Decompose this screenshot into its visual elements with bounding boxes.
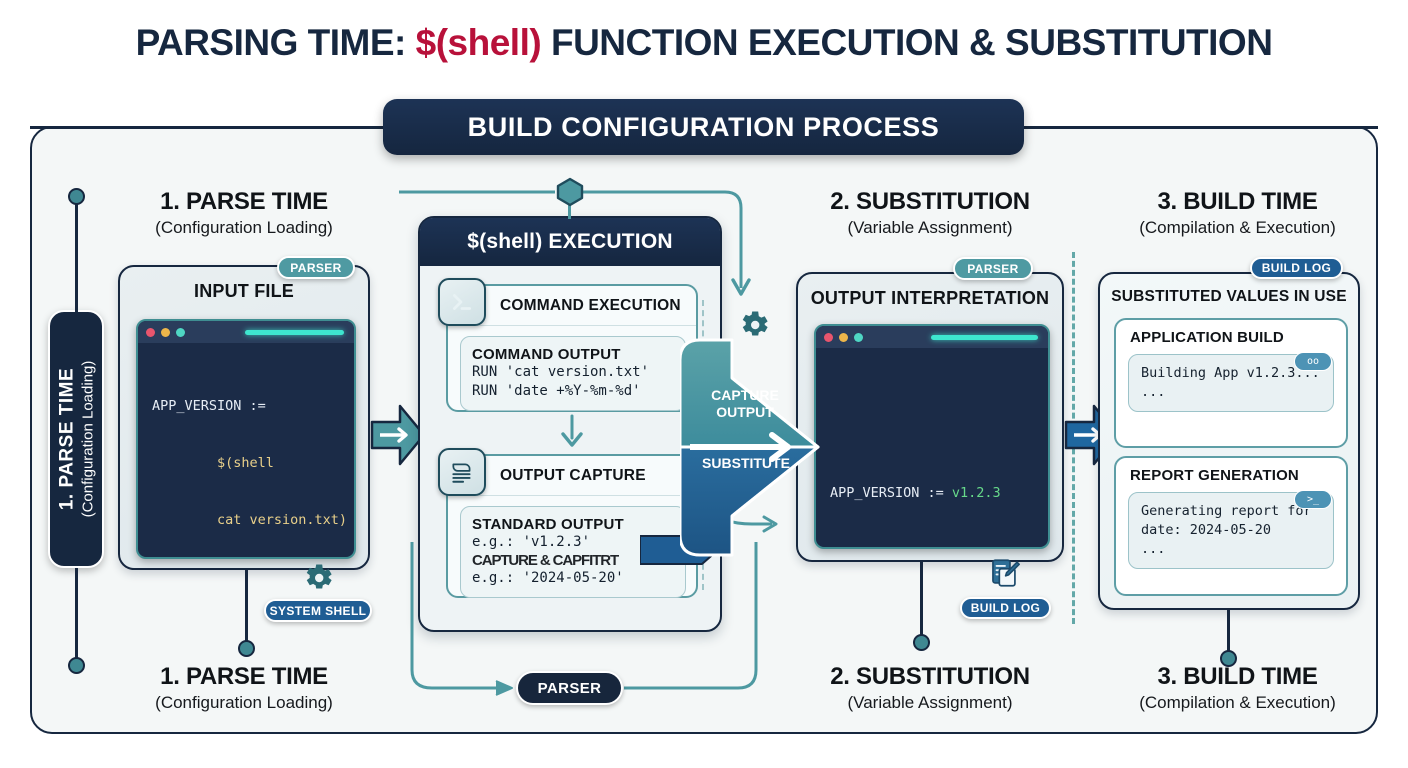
- col1-subtitle: (Configuration Loading): [124, 218, 364, 238]
- connector-line-col1-bottom: [245, 570, 248, 646]
- title-highlight: $(shell): [416, 22, 542, 63]
- bottom2-title: 2. SUBSTITUTION: [795, 663, 1065, 691]
- badge-build-log-col3: BUILD LOG: [960, 597, 1051, 619]
- node-dot-col1-bottom: [238, 640, 255, 657]
- titlebar-accent: [931, 335, 1038, 340]
- infographic-canvas: PARSING TIME: $(shell) FUNCTION EXECUTIO…: [0, 0, 1408, 768]
- report-line-1: Generating report for: [1141, 503, 1312, 519]
- badge-parser-substitution: PARSER: [953, 257, 1033, 280]
- subst-line-1: APP_VERSION := v1.2.3: [830, 475, 1034, 511]
- maximize-dot-icon: [854, 333, 863, 342]
- badge-system-shell: SYSTEM SHELL: [264, 599, 372, 622]
- connector-line-col3-bottom: [920, 562, 923, 640]
- bottom-label-build-time: 3. BUILD TIME (Compilation & Execution): [1095, 663, 1380, 713]
- node-dot-side-bottom: [68, 657, 85, 674]
- input-file-code: APP_VERSION := $(shell cat version.txt) …: [138, 343, 354, 559]
- gear-shell-icon-wrap: [300, 560, 336, 601]
- badge-parser-bottom: PARSER: [516, 671, 623, 705]
- side-tab-title: 1. PARSE TIME: [56, 361, 78, 518]
- arrow-label-capture: CAPTURE: [690, 387, 800, 404]
- build-values-card: SUBSTITUTED VALUES IN USE APPLICATION BU…: [1098, 272, 1360, 610]
- command-output-title: COMMAND OUTPUT: [472, 346, 674, 363]
- column-header-build-time: 3. BUILD TIME (Compilation & Execution): [1095, 188, 1380, 238]
- bottom-label-substitution: 2. SUBSTITUTION (Variable Assignment): [795, 663, 1065, 713]
- build-log-icon-wrap: [988, 556, 1022, 595]
- page-title: PARSING TIME: $(shell) FUNCTION EXECUTIO…: [0, 22, 1408, 64]
- command-output-line-2: RUN 'date +%Y-%m-%d': [472, 382, 674, 401]
- report-line-3: ...: [1141, 541, 1165, 557]
- banner-wing-left: [30, 126, 385, 129]
- col1-title: 1. PARSE TIME: [124, 188, 364, 216]
- bottom1-title: 1. PARSE TIME: [124, 663, 364, 691]
- banner-wing-right: [1022, 126, 1378, 129]
- title-post: FUNCTION EXECUTION & SUBSTITUTION: [541, 22, 1272, 63]
- arrow-label-capture-output: CAPTURE OUTPUT: [690, 387, 800, 421]
- arrow-command-to-capture: [554, 414, 590, 450]
- column-header-parse-time: 1. PARSE TIME (Configuration Loading): [124, 188, 364, 238]
- arrow-label-substitute: SUBSTITUTE: [690, 455, 802, 471]
- column-header-substitution: 2. SUBSTITUTION (Variable Assignment): [795, 188, 1065, 238]
- gear-icon: [300, 560, 336, 596]
- app-build-line-1: Building App v1.2.3...: [1141, 365, 1320, 381]
- code-line-1: APP_VERSION :=: [152, 397, 340, 416]
- code-line-2: $(shell: [152, 454, 340, 473]
- hexagon-node-icon: [554, 176, 586, 208]
- application-build-heading: APPLICATION BUILD: [1116, 320, 1346, 346]
- command-output-box: COMMAND OUTPUT RUN 'cat version.txt' RUN…: [460, 336, 686, 411]
- app-build-pill: oo: [1294, 352, 1332, 371]
- output-interpretation-title: OUTPUT INTERPRETATION: [798, 288, 1062, 309]
- close-dot-icon: [146, 328, 155, 337]
- capture-substitute-arrow: [680, 330, 840, 565]
- bottom-label-parse-time: 1. PARSE TIME (Configuration Loading): [124, 663, 364, 713]
- minimize-dot-icon: [161, 328, 170, 337]
- col3-subtitle: (Compilation & Execution): [1095, 218, 1380, 238]
- bottom1-subtitle: (Configuration Loading): [124, 693, 364, 713]
- app-build-line-2: ...: [1141, 384, 1165, 400]
- report-generation-card: REPORT GENERATION >_ Generating report f…: [1114, 456, 1348, 596]
- gear-mid-icon-wrap: [736, 307, 772, 348]
- input-file-terminal: APP_VERSION := $(shell cat version.txt) …: [136, 319, 356, 559]
- terminal-titlebar: [816, 326, 1048, 348]
- application-build-card: APPLICATION BUILD oo Building App v1.2.3…: [1114, 318, 1348, 448]
- titlebar-accent: [245, 330, 344, 335]
- node-dot-col3-bottom: [913, 634, 930, 651]
- input-file-title: INPUT FILE: [120, 281, 368, 302]
- input-file-card: INPUT FILE APP_VERSION := $(shell cat ve…: [118, 265, 370, 570]
- connector-line-side-top: [75, 196, 78, 312]
- build-values-title: SUBSTITUTED VALUES IN USE: [1100, 288, 1358, 306]
- node-dot-side-top: [68, 188, 85, 205]
- side-tab-subtitle: (Configuration Loading): [79, 361, 96, 518]
- bottom2-subtitle: (Variable Assignment): [795, 693, 1065, 713]
- report-generation-heading: REPORT GENERATION: [1116, 458, 1346, 484]
- bottom3-subtitle: (Compilation & Execution): [1095, 693, 1380, 713]
- col3-title: 3. BUILD TIME: [1095, 188, 1380, 216]
- connector-line-side-bottom: [75, 568, 78, 664]
- substitution-terminal: APP_VERSION := v1.2.3 BUILD_DATE := 2024…: [814, 324, 1050, 549]
- command-output-line-1: RUN 'cat version.txt': [472, 363, 674, 382]
- minimize-dot-icon: [839, 333, 848, 342]
- arrow-label-output: OUTPUT: [690, 404, 800, 421]
- gear-icon: [736, 307, 772, 343]
- maximize-dot-icon: [176, 328, 185, 337]
- bottom3-title: 3. BUILD TIME: [1095, 663, 1380, 691]
- document-lines-glyph: [449, 459, 475, 485]
- substitution-code: APP_VERSION := v1.2.3 BUILD_DATE := 2024…: [816, 348, 1048, 549]
- col2-subtitle: (Variable Assignment): [795, 218, 1065, 238]
- badge-parser-input: PARSER: [277, 256, 355, 279]
- side-tab-parse-time: 1. PARSE TIME (Configuration Loading): [48, 310, 104, 568]
- report-line-2: date: 2024-05-20: [1141, 522, 1271, 538]
- code-line-3: cat version.txt): [152, 511, 340, 530]
- banner-title: BUILD CONFIGURATION PROCESS: [383, 99, 1024, 155]
- report-pill: >_: [1294, 490, 1332, 509]
- badge-build-log-col4: BUILD LOG: [1250, 257, 1343, 279]
- title-pre: PARSING TIME:: [136, 22, 416, 63]
- document-pencil-icon: [988, 556, 1022, 590]
- terminal-titlebar: [138, 321, 354, 343]
- col2-title: 2. SUBSTITUTION: [795, 188, 1065, 216]
- document-lines-icon: [438, 448, 486, 496]
